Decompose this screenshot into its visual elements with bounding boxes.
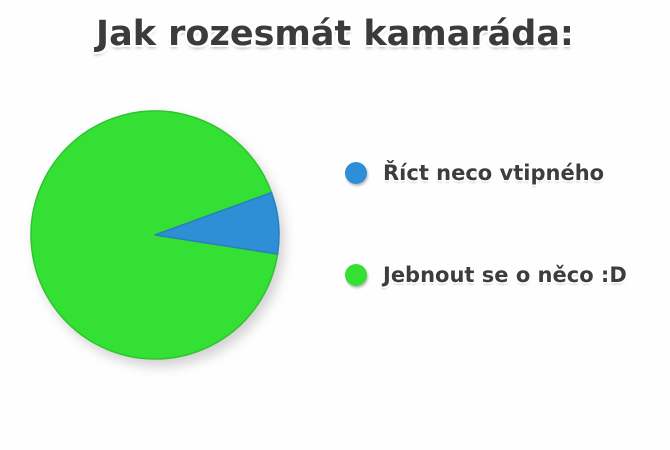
legend: Říct neco vtipného Jebnout se o něco :D xyxy=(345,148,655,352)
legend-color-swatch-blue xyxy=(345,162,367,184)
pie-chart-svg xyxy=(30,110,280,360)
legend-item-green: Jebnout se o něco :D xyxy=(345,250,655,300)
page-title: Jak rozesmát kamaráda: xyxy=(0,14,670,54)
legend-label-blue: Říct neco vtipného xyxy=(383,161,604,185)
meme-image: Jak rozesmát kamaráda: Říct neco vtipnéh… xyxy=(0,0,670,450)
pie-chart xyxy=(30,110,290,370)
legend-color-swatch-green xyxy=(345,264,367,286)
legend-label-green: Jebnout se o něco :D xyxy=(383,263,627,287)
legend-item-blue: Říct neco vtipného xyxy=(345,148,655,198)
